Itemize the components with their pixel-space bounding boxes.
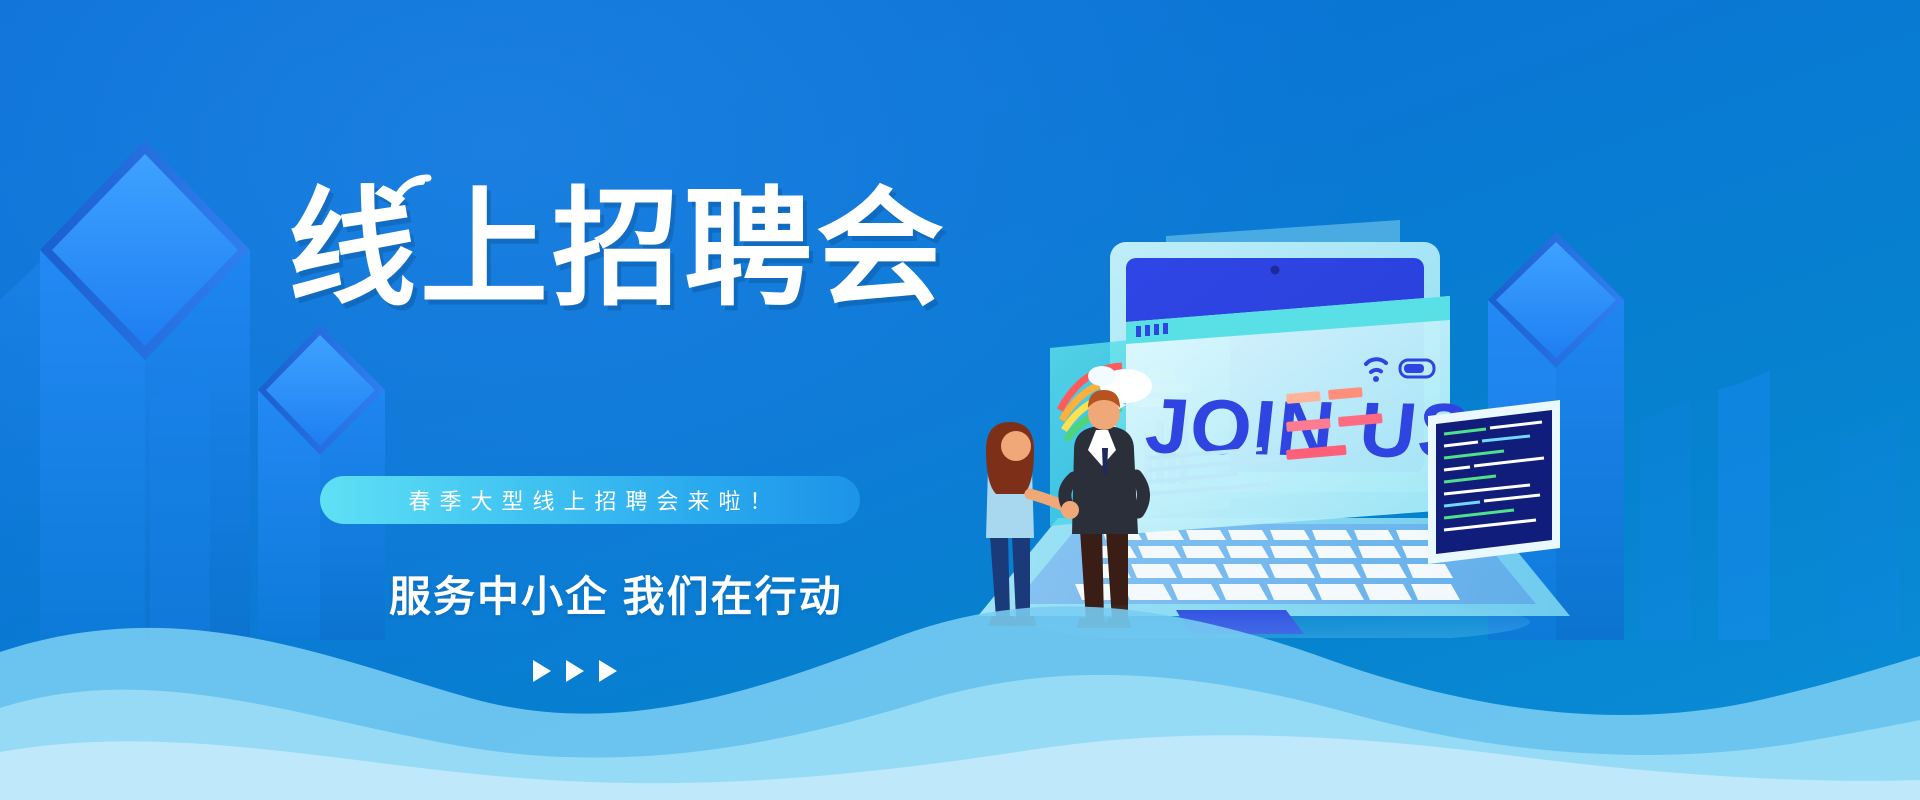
promo-banner: 线上招聘会 春季大型线上招聘会来啦！ 服务中小企 我们在行动 <box>0 0 1920 800</box>
wave-decoration <box>0 540 1920 800</box>
wifi-signal-icon <box>384 162 444 218</box>
handshake-icon <box>1061 501 1079 519</box>
subtitle-pill-label: 春季大型线上招聘会来啦！ <box>399 484 780 516</box>
subtitle-pill: 春季大型线上招聘会来啦！ <box>320 476 860 524</box>
webcam-icon <box>1271 266 1280 275</box>
join-us-window: JOIN US <box>1126 296 1475 534</box>
